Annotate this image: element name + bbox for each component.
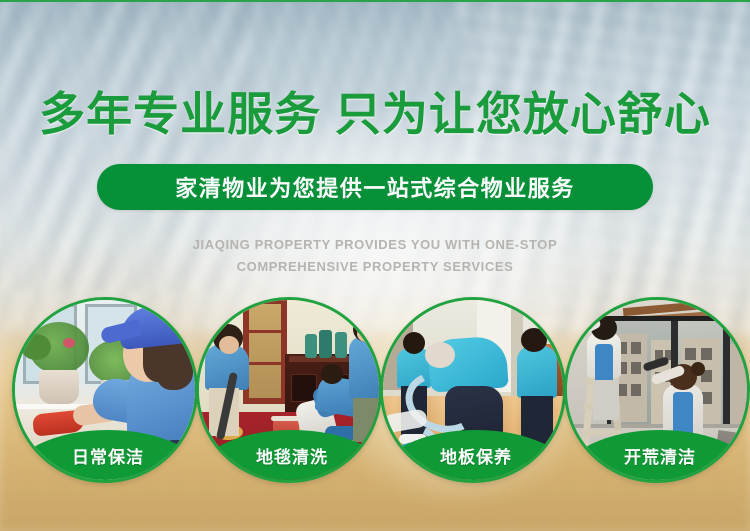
service-label-daily-cleaning: 日常保洁 — [15, 443, 198, 468]
service-item-post-renovation-cleaning[interactable]: 开荒清洁 — [564, 297, 750, 483]
page-title: 多年专业服务 只为让您放心舒心 — [0, 88, 750, 140]
service-item-floor-maintenance[interactable]: 地板保养 — [380, 297, 566, 483]
english-subtitle-line-1: JIAQING PROPERTY PROVIDES YOU WITH ONE-S… — [0, 234, 750, 256]
top-green-rule — [0, 0, 750, 2]
tagline-pill: 家清物业为您提供一站式综合物业服务 — [97, 164, 653, 210]
service-item-carpet-washing[interactable]: 地毯清洗 — [196, 297, 382, 483]
service-label-carpet-washing: 地毯清洗 — [199, 443, 382, 468]
english-subtitle-line-2: COMPREHENSIVE PROPERTY SERVICES — [0, 256, 750, 278]
english-subtitle: JIAQING PROPERTY PROVIDES YOU WITH ONE-S… — [0, 234, 750, 278]
service-label-floor-maintenance: 地板保养 — [383, 443, 566, 468]
service-item-daily-cleaning[interactable]: 日常保洁 — [12, 297, 198, 483]
service-circle-row: 日常保洁 — [0, 297, 750, 485]
service-promo-banner: 多年专业服务 只为让您放心舒心 家清物业为您提供一站式综合物业服务 JIAQIN… — [0, 0, 750, 531]
service-label-post-renovation-cleaning: 开荒清洁 — [567, 443, 750, 468]
tagline-text: 家清物业为您提供一站式综合物业服务 — [175, 171, 575, 203]
